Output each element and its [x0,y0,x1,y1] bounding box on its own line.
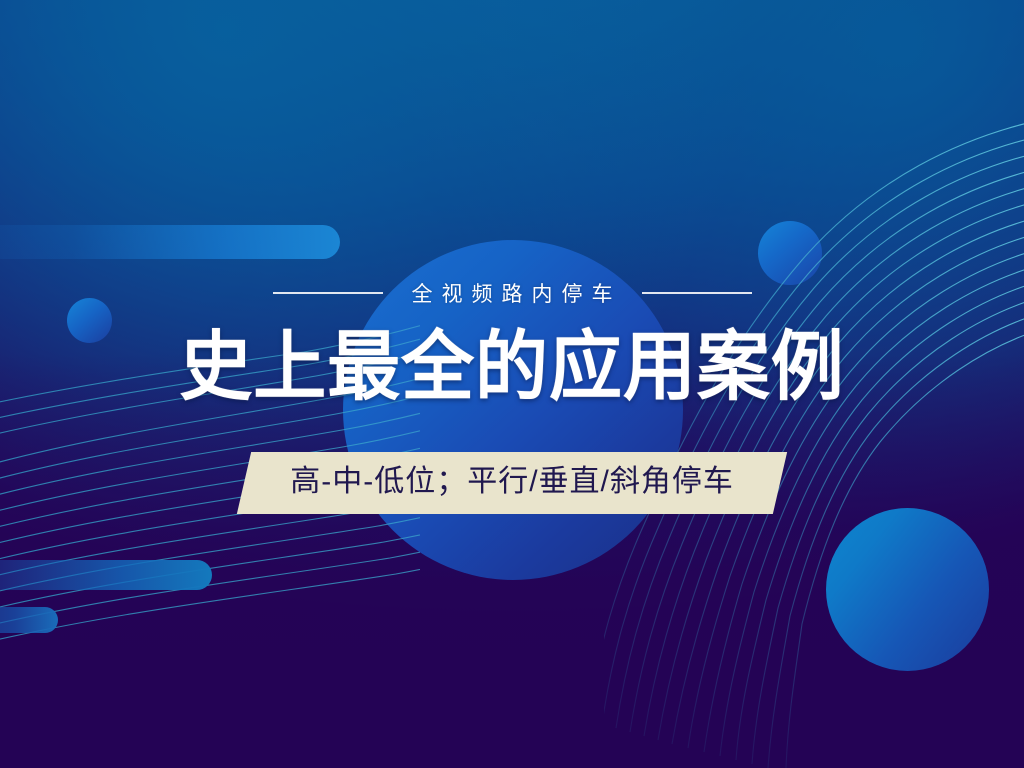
subtitle-banner: 高-中-低位；平行/垂直/斜角停车 [237,452,787,514]
slide-content: 全视频路内停车 史上最全的应用案例 高-中-低位；平行/垂直/斜角停车 [0,0,1024,768]
eyebrow-row: 全视频路内停车 [0,278,1024,308]
subtitle-banner-text: 高-中-低位；平行/垂直/斜角停车 [290,463,734,501]
rule-right-icon [642,292,752,294]
eyebrow-text: 全视频路内停车 [403,278,622,308]
banner-wrap: 高-中-低位；平行/垂直/斜角停车 [0,452,1024,514]
rule-left-icon [273,292,383,294]
presentation-slide: 全视频路内停车 史上最全的应用案例 高-中-低位；平行/垂直/斜角停车 [0,0,1024,768]
page-title: 史上最全的应用案例 [20,325,1003,411]
